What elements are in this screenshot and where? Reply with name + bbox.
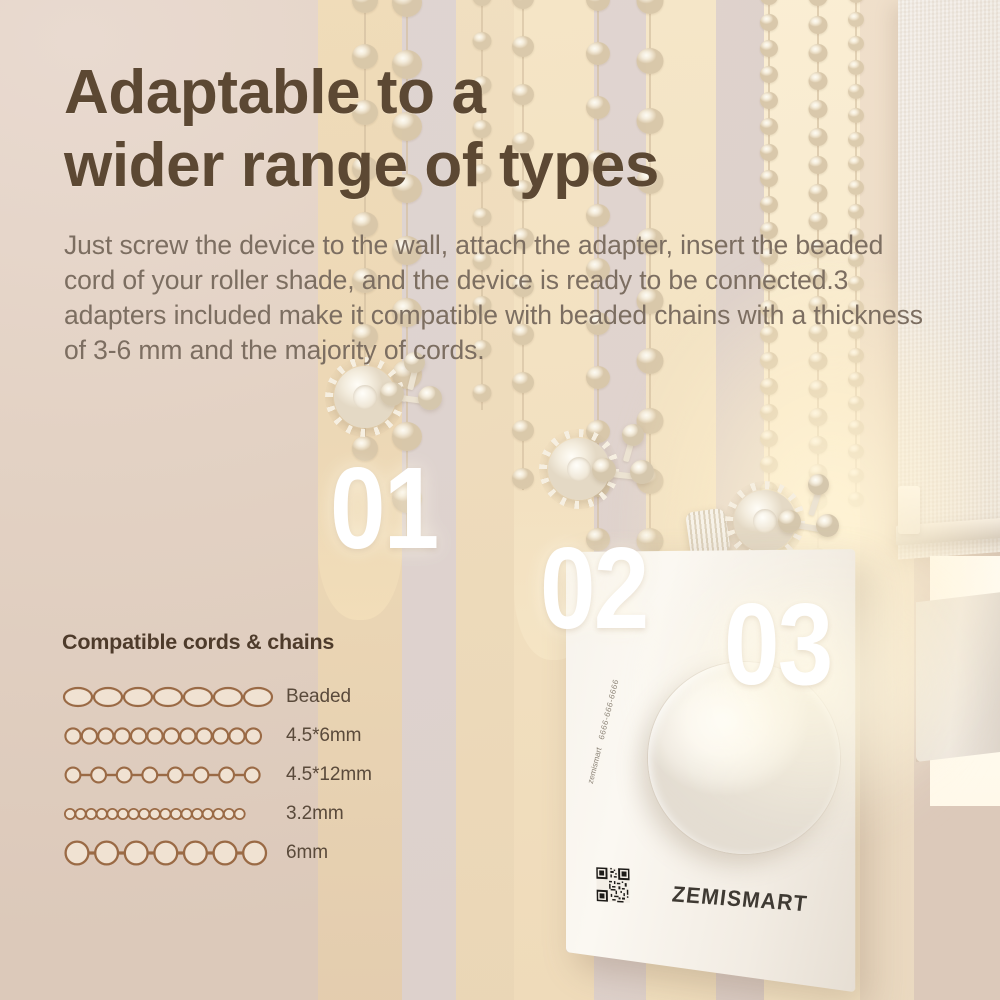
chain-bead	[848, 156, 864, 171]
chain-diagram-icon	[62, 721, 278, 751]
chain-bead	[760, 14, 778, 31]
chain-bead	[760, 92, 778, 109]
legend-row: Beaded	[62, 677, 422, 716]
chain-bead	[848, 12, 864, 27]
headline-line-1: Adaptable to a	[64, 56, 659, 129]
chain-bead	[760, 170, 778, 187]
chain-bead	[586, 204, 610, 227]
legend-row: 3.2mm	[62, 794, 422, 833]
chain-bead	[808, 474, 829, 495]
chain-diagram-icon	[62, 682, 278, 712]
chain-bead	[808, 0, 827, 6]
legend-row: 4.5*6mm	[62, 716, 422, 755]
chain-bead	[352, 0, 378, 13]
chain-bead	[808, 156, 827, 174]
legend-row: 6mm	[62, 833, 422, 872]
chain-diagram-icon	[62, 760, 278, 790]
chain-bead	[808, 72, 827, 90]
legend-row-label: Beaded	[278, 686, 351, 708]
chain-bead	[848, 60, 864, 75]
chain-bead	[380, 382, 404, 406]
chain-bead	[808, 44, 827, 62]
chain-bead	[760, 196, 778, 213]
chain-bead	[808, 128, 827, 146]
chain-bead	[512, 36, 534, 57]
chain-bead	[816, 514, 839, 537]
chain-bead	[760, 144, 778, 161]
chain-bead	[512, 372, 534, 393]
chain-bead	[808, 184, 827, 202]
legend-row: 4.5*12mm	[62, 755, 422, 794]
step-number-01: 01	[330, 450, 438, 566]
legend-row-list: Beaded4.5*6mm4.5*12mm3.2mm6mm	[62, 677, 422, 872]
chain-bead	[636, 0, 663, 14]
chain-bead	[592, 458, 616, 482]
legend-row-label: 4.5*6mm	[278, 725, 361, 747]
headline-line-2: wider range of types	[64, 129, 659, 202]
chain-bead	[848, 36, 864, 51]
chain-bead	[760, 40, 778, 57]
chain-bead	[418, 386, 442, 410]
chain-bead	[512, 420, 534, 441]
chain-bead	[848, 84, 864, 99]
chain-bead	[848, 108, 864, 123]
chain-bead	[472, 0, 491, 6]
chain-bead	[622, 424, 644, 446]
chain-bead	[760, 0, 778, 5]
chain-bead	[586, 0, 610, 11]
page-title: Adaptable to a wider range of types	[64, 56, 659, 202]
chain-bead	[848, 204, 864, 219]
legend-row-label: 4.5*12mm	[278, 764, 372, 786]
chain-bead	[778, 510, 801, 533]
legend-title: Compatible cords & chains	[62, 630, 422, 655]
chain-bead	[848, 180, 864, 195]
legend-row-label: 6mm	[278, 842, 328, 864]
chain-bead	[472, 32, 491, 50]
chain-bead	[808, 100, 827, 118]
adapter-part-2	[534, 428, 684, 538]
chain-bead	[760, 118, 778, 135]
chain-bead	[472, 208, 491, 226]
chain-bead	[630, 460, 654, 484]
legend-row-label: 3.2mm	[278, 803, 344, 825]
step-number-02: 02	[540, 530, 648, 646]
chain-bead	[392, 0, 422, 17]
chain-bead	[808, 16, 827, 34]
chain-bead	[586, 366, 610, 389]
chain-bead	[848, 132, 864, 147]
chain-bead	[512, 0, 534, 9]
compatible-cords-legend: Compatible cords & chains Beaded4.5*6mm4…	[62, 630, 422, 872]
chain-diagram-icon	[62, 799, 278, 829]
qr-code	[596, 863, 630, 907]
chain-bead	[760, 66, 778, 83]
chain-diagram-icon	[62, 838, 278, 868]
body-paragraph: Just screw the device to the wall, attac…	[64, 228, 926, 368]
chain-bead	[512, 468, 534, 489]
step-number-03: 03	[724, 586, 832, 702]
chain-bead	[848, 0, 864, 3]
product-marketing-image: zemismart 6666-666-6666 ZEMISMART 01 02 …	[0, 0, 1000, 1000]
chain-bead	[472, 384, 491, 402]
